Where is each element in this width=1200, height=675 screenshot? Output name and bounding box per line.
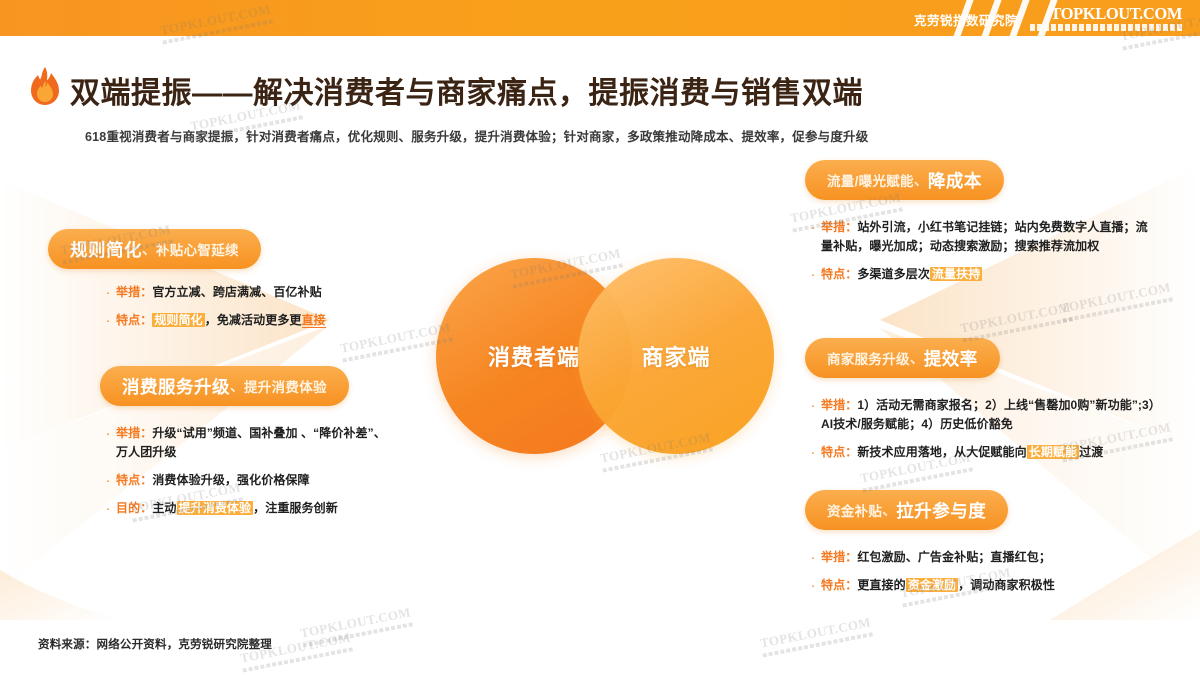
panel-bullets-traffic-cost: · 举措：站外引流，小红书笔记挂链；站内免费数字人直播；流量补贴，曝光加成；动态… [805,218,1155,293]
bullet-highlight: 提升消费体验 [177,501,254,515]
list-item: · 举措：红包激励、广告金补贴；直播红包； [805,548,1155,567]
bullet-highlight: 长期赋能 [1027,445,1079,459]
panel-pill-service-upgrade[interactable]: 消费服务升级 、 提升消费体验 [100,366,349,406]
bullet-label: 举措： [821,220,857,234]
list-item: · 举措：官方立减、跨店满减、百亿补贴 [100,283,390,302]
bullet-text: 红包激励、广告金补贴；直播红包； [857,550,1051,564]
bullet-dot-icon: · [100,425,116,442]
merchant-side-label: 商家端 [641,340,710,372]
pill-light-text: 提升消费体验 [244,376,327,396]
bullet-label: 举措： [821,550,857,564]
bullet-text: 主动 [152,501,176,515]
list-item: · 举措：1）活动无需商家报名；2）上线“售罄加0购”新功能”;3）AI技术/服… [805,396,1155,434]
logo-wordmark: TOPKLOUT.COM [1030,5,1182,22]
bullet-dot-icon: · [100,312,116,329]
list-item: · 举措：升级“试用”频道、国补叠加 、“降价补差”、万人团升级 [100,424,390,462]
watermark: TOPKLOUT.COM [759,614,873,657]
pill-separator: 、 [230,376,244,396]
bullet-text: ，免减活动更多更 [205,313,302,327]
pill-strong-text: 拉升参与度 [896,498,986,523]
bullet-dot-icon: · [805,549,821,566]
list-item: · 特点：规则简化，免减活动更多更直接 [100,311,390,330]
brand-chinese-name: 克劳锐指数研究院 [914,10,1018,29]
bullet-label: 特点： [821,445,857,459]
list-item: · 举措：站外引流，小红书笔记挂链；站内免费数字人直播；流量补贴，曝光加成；动态… [805,218,1155,256]
logo-subtitle-bars [1030,24,1182,31]
bullet-dot-icon: · [100,500,116,517]
list-item: · 特点：多渠道多层次流量扶持 [805,265,1155,284]
topklout-logo[interactable]: TOPKLOUT.COM [1030,5,1182,32]
pill-light-text: 资金补贴 [827,500,882,520]
bullet-dot-icon: · [100,284,116,301]
bullet-text: 官方立减、跨店满减、百亿补贴 [152,285,321,299]
pill-separator: 、 [914,170,928,190]
bullet-label: 特点： [821,578,857,592]
top-header-bar: 克劳锐指数研究院 TOPKLOUT.COM [0,0,1200,36]
pill-separator: 、 [142,239,156,259]
pill-strong-text: 降成本 [928,168,982,193]
bullet-text: 升级“试用”频道、国补叠加 、“降价补差”、万人团升级 [116,426,386,459]
bullet-underline-text: 直接 [302,313,326,328]
bullet-highlight: 资金激励 [906,578,958,592]
pill-strong-text: 规则简化 [70,237,142,262]
list-item: · 特点：更直接的资金激励，调动商家积极性 [805,576,1155,595]
bullet-text: 消费体验升级，强化价格保障 [152,473,309,487]
flame-icon [28,66,62,106]
list-item: · 特点：新技术应用落地，从大促赋能向长期赋能过渡 [805,443,1155,462]
list-item: · 特点：消费体验升级，强化价格保障 [100,471,390,490]
bullet-highlight: 流量扶持 [930,267,982,281]
panel-bullets-rule-simplification: · 举措：官方立减、跨店满减、百亿补贴 · 特点：规则简化，免减活动更多更直接 [100,283,390,339]
pill-light-text: 流量/曝光赋能 [827,170,914,190]
panel-pill-traffic-cost[interactable]: 流量/曝光赋能 、 降成本 [805,160,1004,200]
panel-pill-rule-simplification[interactable]: 规则简化 、 补贴心智延续 [48,229,261,269]
bullet-label: 举措： [116,426,152,440]
bullet-label: 特点： [821,267,857,281]
bullet-dot-icon: · [805,397,821,414]
slide-root: 克劳锐指数研究院 TOPKLOUT.COM 双端提振——解决消费者与商家痛点，提… [0,0,1200,675]
bullet-text: 1）活动无需商家报名；2）上线“售罄加0购”新功能”;3）AI技术/服务赋能；4… [821,398,1155,431]
bullet-text: ，调动商家积极性 [958,578,1055,592]
bullet-label: 举措： [821,398,857,412]
bullet-dot-icon: · [805,577,821,594]
merchant-side-circle[interactable]: 商家端 [578,258,774,454]
bullet-text: 新技术应用落地，从大促赋能向 [857,445,1026,459]
pill-light-text: 商家服务升级 [827,348,910,368]
bullet-label: 目的： [116,501,152,515]
bullet-label: 举措： [116,285,152,299]
pill-separator: 、 [882,500,896,520]
bullet-text: 过渡 [1079,445,1103,459]
bullet-dot-icon: · [100,472,116,489]
list-item: · 目的：主动提升消费体验，注重服务创新 [100,499,390,518]
source-note: 资料来源：网络公开资料，克劳锐研究院整理 [38,636,272,652]
bullet-text: ，注重服务创新 [253,501,338,515]
bullet-dot-icon: · [805,444,821,461]
bullet-text: 更直接的 [857,578,905,592]
panel-pill-merchant-efficiency[interactable]: 商家服务升级 、 提效率 [805,338,1000,378]
bullet-dot-icon: · [805,266,821,283]
panel-pill-subsidy-participation[interactable]: 资金补贴 、 拉升参与度 [805,490,1008,530]
pill-separator: 、 [910,348,924,368]
bullet-label: 特点： [116,473,152,487]
bullet-highlight: 规则简化 [152,313,204,327]
panel-bullets-merchant-efficiency: · 举措：1）活动无需商家报名；2）上线“售罄加0购”新功能”;3）AI技术/服… [805,396,1155,471]
pill-strong-text: 提效率 [924,346,978,371]
pill-light-text: 补贴心智延续 [156,239,239,259]
page-subtitle: 618重视消费者与商家提振，针对消费者痛点，优化规则、服务升级，提升消费体验；针… [85,126,1145,145]
bullet-label: 特点： [116,313,152,327]
consumer-side-label: 消费者端 [488,340,580,372]
panel-bullets-service-upgrade: · 举措：升级“试用”频道、国补叠加 、“降价补差”、万人团升级 · 特点：消费… [100,424,390,527]
bullet-text: 多渠道多层次 [857,267,930,281]
bullet-dot-icon: · [805,219,821,236]
panel-bullets-subsidy-participation: · 举措：红包激励、广告金补贴；直播红包； · 特点：更直接的资金激励，调动商家… [805,548,1155,604]
bullet-text: 站外引流，小红书笔记挂链；站内免费数字人直播；流量补贴，曝光加成；动态搜索激励；… [821,220,1148,253]
pill-strong-text: 消费服务升级 [122,374,230,399]
page-title: 双端提振——解决消费者与商家痛点，提振消费与销售双端 [70,68,863,112]
